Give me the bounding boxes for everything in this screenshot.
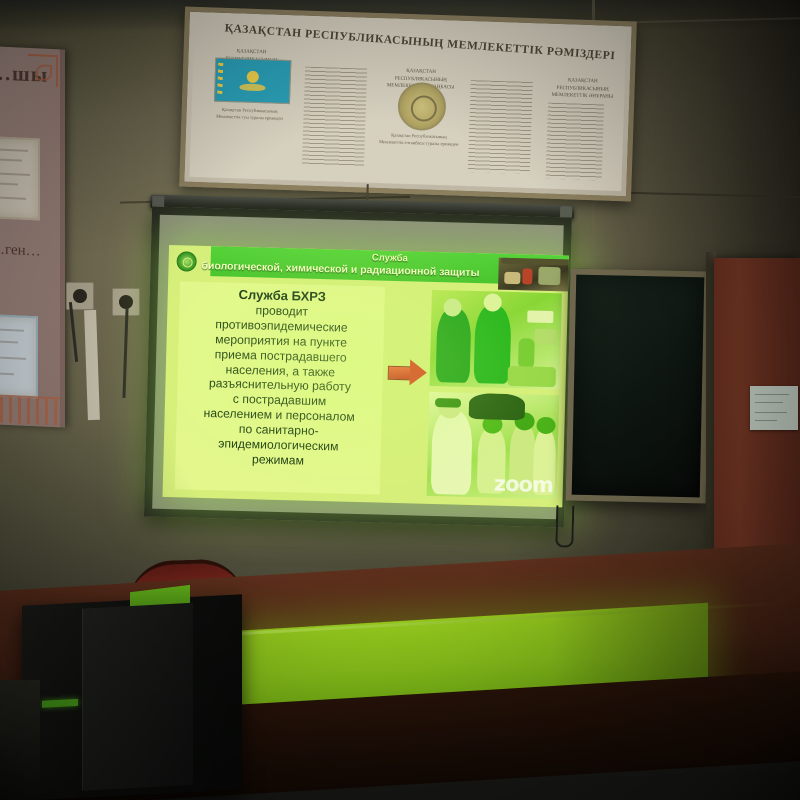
- anthem-caption: ҚАЗАҚСТАН РЕСПУБЛИКАСЫНЫҢ МЕМЛЕКЕТТІК ӘН…: [544, 77, 621, 102]
- slide-text-block: Служба БХРЗ проводит противоэпидемически…: [175, 281, 385, 494]
- slide-body-line: эпидемиологическим: [218, 436, 339, 454]
- slide-body-line: проводит: [255, 303, 308, 319]
- slide-body-line: режимам: [252, 452, 304, 468]
- poster-text-column: [468, 80, 533, 174]
- ornament-border-icon: [0, 394, 62, 426]
- screen-pull-cord[interactable]: [555, 505, 574, 547]
- slide-inset-photo: [498, 258, 569, 292]
- kazakhstan-emblem-icon: [397, 82, 447, 132]
- state-symbols-poster: ҚАЗАҚСТАН РЕСПУБЛИКАСЫНЫҢ МЕМЛЕКЕТТІК РӘ…: [179, 7, 637, 202]
- projector-equipment[interactable]: [22, 594, 242, 800]
- honor-board: …шы …ген…: [0, 46, 65, 427]
- certificate-item: [0, 136, 40, 221]
- slide-title: Служба БХРЗ: [238, 287, 326, 304]
- ornament-corner-icon: [28, 54, 58, 87]
- emblem-note: Қазақстан Республикасының Мемлекеттік ел…: [379, 131, 459, 148]
- poster-text-column: [302, 67, 367, 167]
- slide-photo-hazmat: zoom: [427, 392, 560, 499]
- presentation-slide: Служба биологической, химической и радиа…: [162, 245, 568, 507]
- floor-shadow: [0, 680, 40, 800]
- poster-text-column: [546, 103, 604, 181]
- screen-surface: Служба биологической, химической и радиа…: [144, 207, 572, 528]
- classroom-photo: …шы …ген… ҚАЗАҚСТАН РЕСПУБЛИКАСЫНЫҢ МЕМЛ…: [0, 0, 800, 800]
- certificate-item: [0, 314, 38, 399]
- flag-note: Қазақстан Республикасының Мемлекеттік ту…: [209, 105, 289, 122]
- projection-screen: Служба биологической, химической и радиа…: [142, 195, 574, 536]
- honor-board-subtitle: …ген…: [0, 241, 41, 260]
- kazakhstan-flag-icon: [214, 58, 291, 104]
- slide-photo-medics: [429, 290, 561, 389]
- door[interactable]: [714, 258, 800, 558]
- chalkboard: [566, 269, 711, 504]
- indicator-light-icon: [42, 699, 78, 708]
- red-right-arrow-icon: [387, 359, 428, 386]
- zoom-watermark: zoom: [494, 472, 554, 498]
- door-notice: [750, 386, 798, 430]
